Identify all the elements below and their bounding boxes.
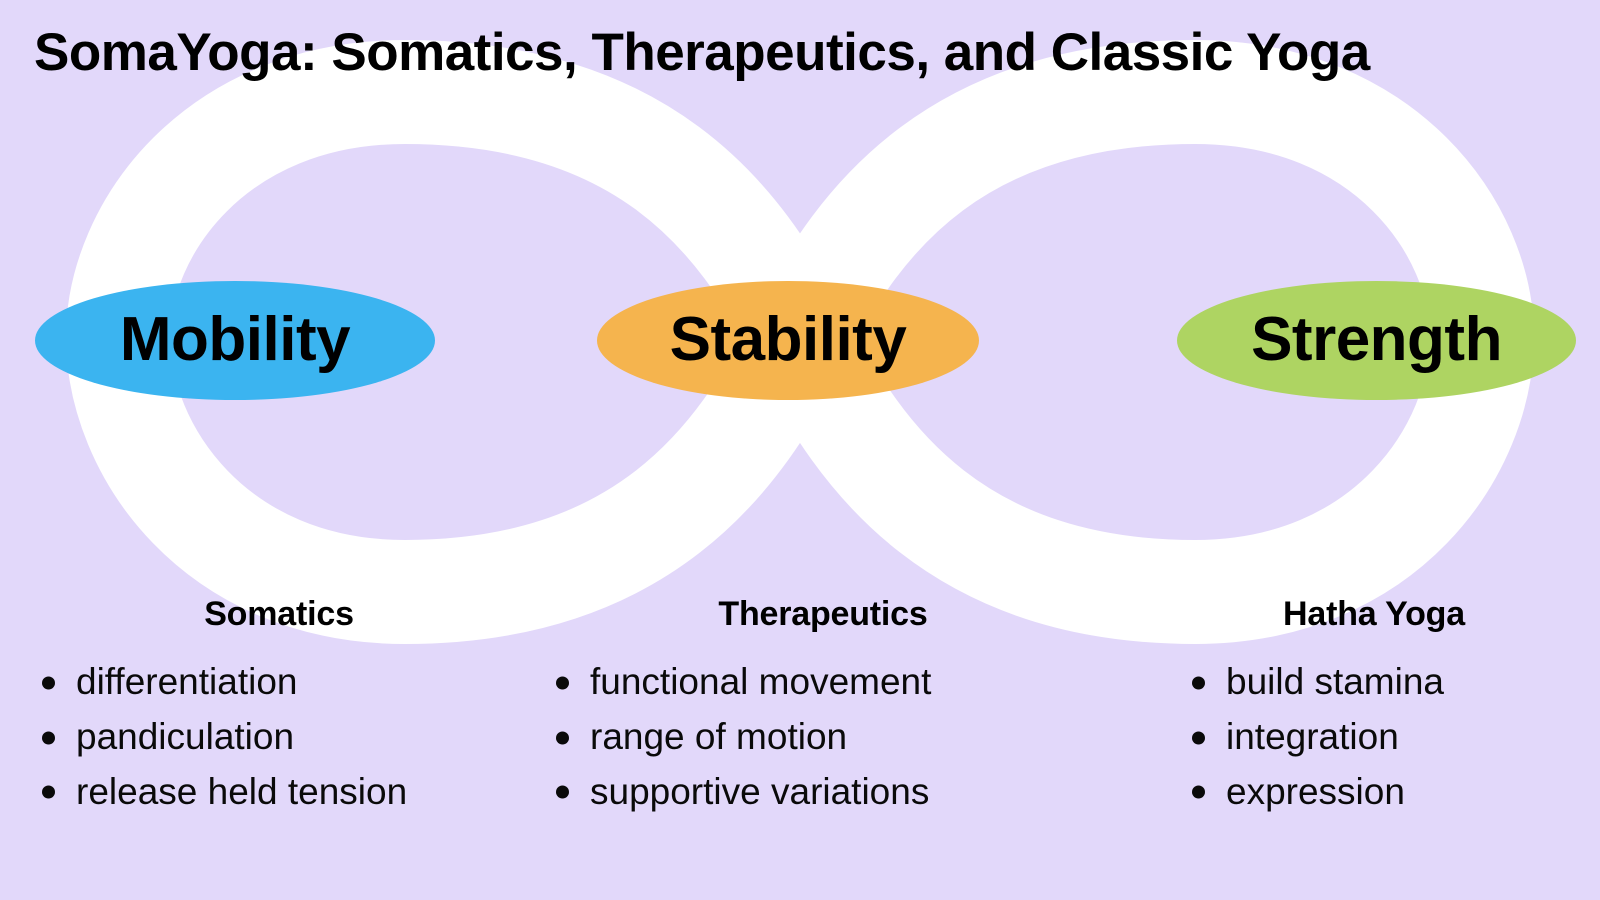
- column-somatics-heading: Somatics: [30, 596, 528, 633]
- pill-stability: Stability: [597, 281, 979, 400]
- list-item: expression: [1186, 765, 1600, 820]
- list-item: integration: [1186, 710, 1600, 765]
- list-item-label: range of motion: [590, 716, 847, 757]
- list-item: release held tension: [36, 765, 528, 820]
- bullet-icon: [42, 786, 55, 799]
- pill-strength-label: Strength: [1251, 309, 1502, 371]
- list-item-label: release held tension: [76, 771, 407, 812]
- bullet-icon: [1192, 676, 1205, 689]
- bullet-icon: [556, 676, 569, 689]
- list-item: range of motion: [550, 710, 1108, 765]
- bullet-icon: [556, 731, 569, 744]
- list-item-label: build stamina: [1226, 661, 1444, 702]
- list-item-label: differentiation: [76, 661, 297, 702]
- list-item-label: functional movement: [590, 661, 931, 702]
- list-item-label: supportive variations: [590, 771, 929, 812]
- column-therapeutics: Therapeutics functional movement range o…: [528, 596, 1108, 896]
- column-somatics-list: differentiation pandiculation release he…: [30, 655, 528, 819]
- bullet-icon: [42, 731, 55, 744]
- page-title: SomaYoga: Somatics, Therapeutics, and Cl…: [34, 22, 1370, 83]
- detail-columns: Somatics differentiation pandiculation r…: [0, 596, 1600, 896]
- column-somatics: Somatics differentiation pandiculation r…: [0, 596, 528, 896]
- list-item: differentiation: [36, 655, 528, 710]
- column-therapeutics-heading: Therapeutics: [538, 596, 1108, 633]
- bullet-icon: [42, 676, 55, 689]
- list-item: pandiculation: [36, 710, 528, 765]
- infographic-canvas: SomaYoga: Somatics, Therapeutics, and Cl…: [0, 0, 1600, 900]
- list-item: build stamina: [1186, 655, 1600, 710]
- pill-mobility-label: Mobility: [120, 309, 350, 371]
- list-item: supportive variations: [550, 765, 1108, 820]
- bullet-icon: [556, 786, 569, 799]
- list-item: functional movement: [550, 655, 1108, 710]
- column-hatha-yoga: Hatha Yoga build stamina integration exp…: [1108, 596, 1600, 896]
- pill-stability-label: Stability: [670, 309, 907, 371]
- list-item-label: pandiculation: [76, 716, 294, 757]
- list-item-label: expression: [1226, 771, 1405, 812]
- bullet-icon: [1192, 786, 1205, 799]
- column-hatha-yoga-list: build stamina integration expression: [1148, 655, 1600, 819]
- column-hatha-yoga-heading: Hatha Yoga: [1148, 596, 1600, 633]
- pill-strength: Strength: [1177, 281, 1576, 400]
- bullet-icon: [1192, 731, 1205, 744]
- pill-mobility: Mobility: [35, 281, 435, 400]
- list-item-label: integration: [1226, 716, 1399, 757]
- column-therapeutics-list: functional movement range of motion supp…: [538, 655, 1108, 819]
